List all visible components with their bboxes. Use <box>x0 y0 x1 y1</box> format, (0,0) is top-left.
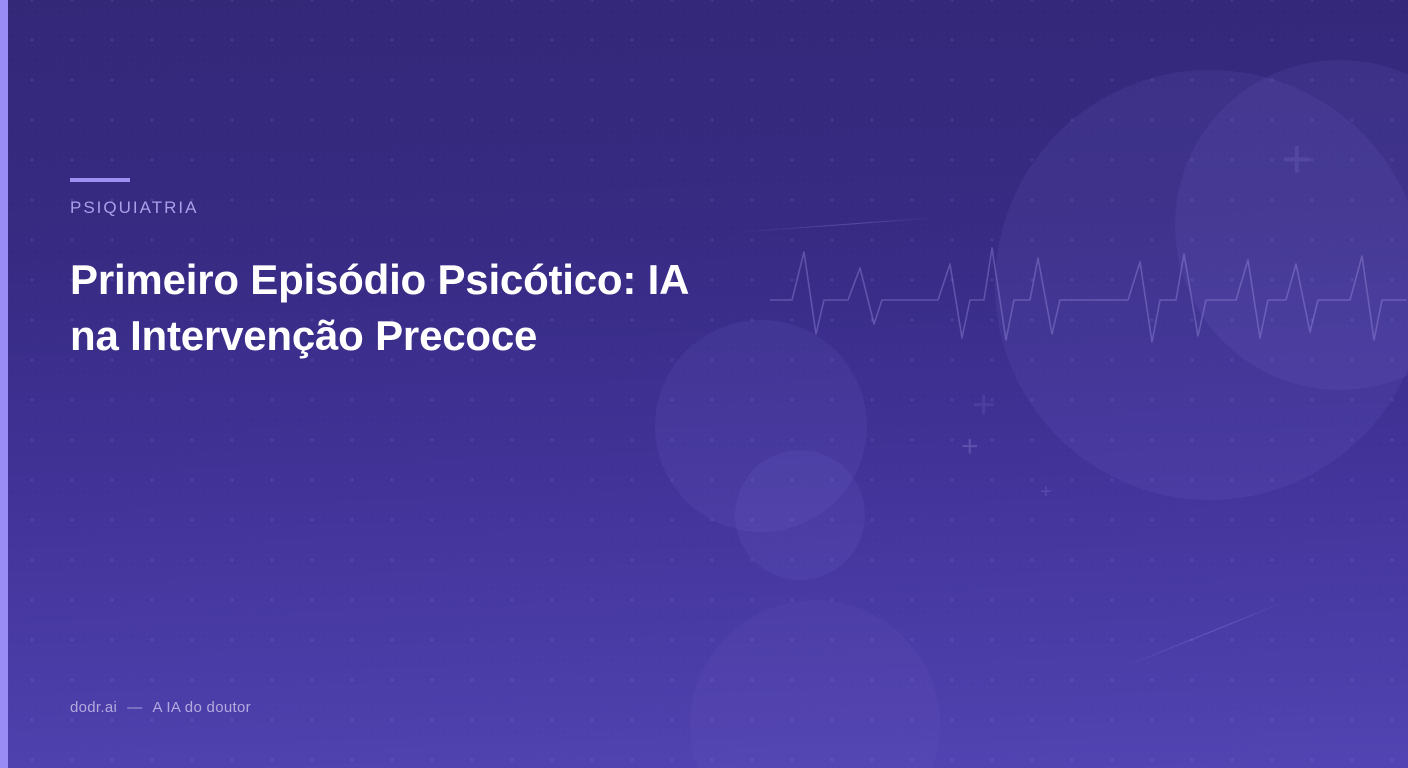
headline-line-2: na Intervenção Precoce <box>70 312 537 359</box>
brand-name: dodr.ai <box>70 699 117 716</box>
footer-separator: — <box>117 699 152 716</box>
social-card: + + + + PSIQUIATRIA Primeiro Episódio Ps… <box>0 0 1408 768</box>
ecg-path <box>770 248 1406 342</box>
medical-plus-icon-middle: + <box>972 385 995 425</box>
brand-tagline: A IA do doutor <box>152 699 250 716</box>
medical-plus-icon-small-a: + <box>961 432 979 462</box>
footer-attribution: dodr.ai—A IA do doutor <box>70 699 251 716</box>
medical-plus-icon-top-right: + <box>1281 132 1313 186</box>
medical-plus-icon-small-b: + <box>1040 482 1052 502</box>
card-content: PSIQUIATRIA Primeiro Episódio Psicótico:… <box>70 0 830 768</box>
left-accent-rail <box>0 0 8 768</box>
decorative-thin-line-lower <box>1115 601 1287 671</box>
headline-line-1: Primeiro Episódio Psicótico: IA <box>70 256 689 303</box>
kicker-accent-bar <box>70 178 130 182</box>
page-title: Primeiro Episódio Psicótico: IA na Inter… <box>70 252 770 365</box>
ecg-heartbeat-icon <box>770 238 1408 353</box>
category-kicker: PSIQUIATRIA <box>70 198 198 218</box>
